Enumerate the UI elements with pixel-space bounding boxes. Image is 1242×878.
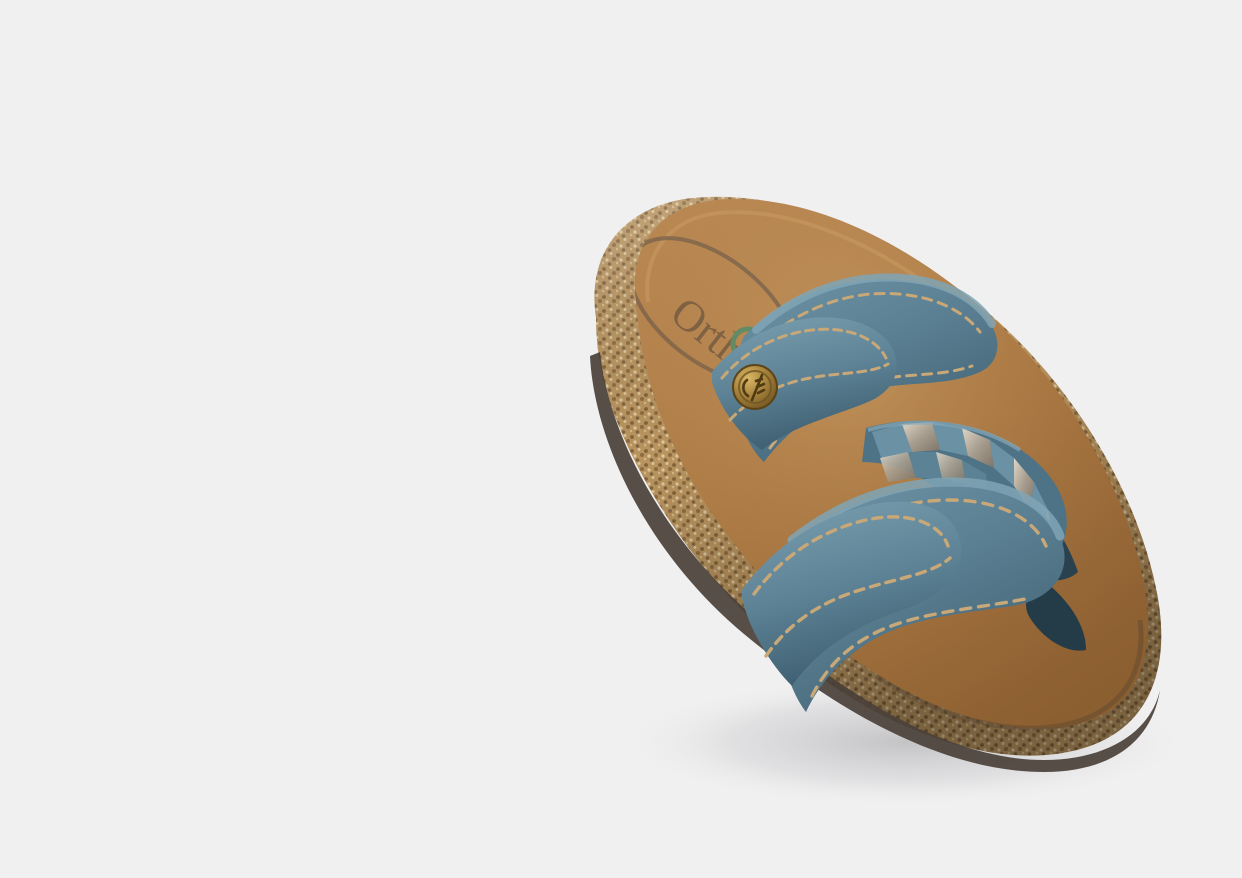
product-image-sandal: Orth	[0, 0, 1242, 878]
product-photo-panel: Orth	[621, 0, 1242, 878]
brass-leaf-rivet-icon	[733, 365, 777, 409]
marketing-banner: Cushions Every Step Easier on your body …	[0, 0, 1242, 878]
